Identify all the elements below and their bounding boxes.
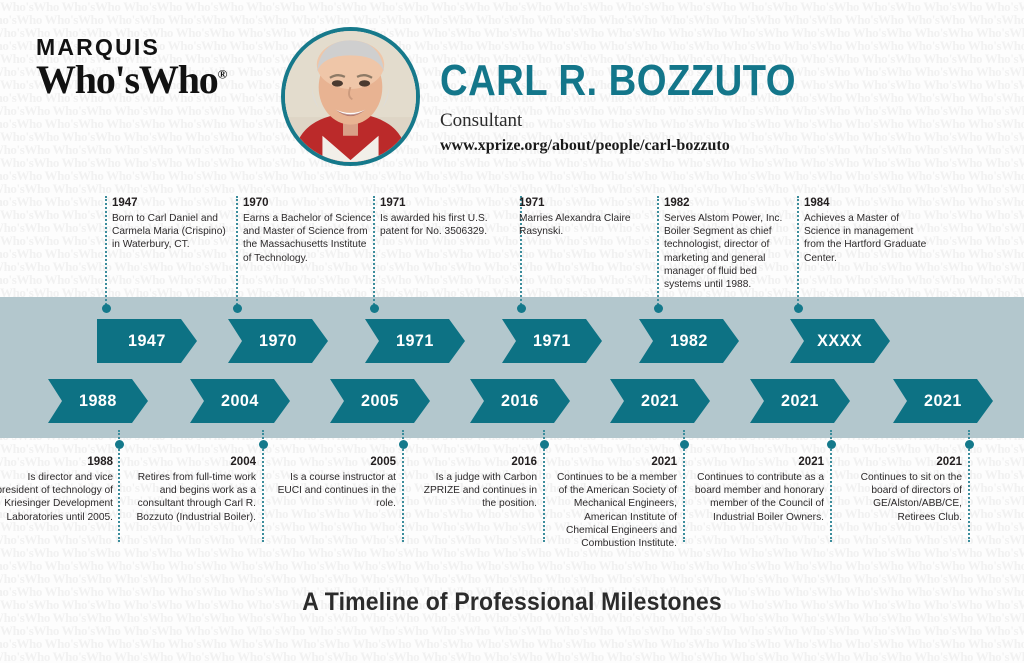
event-description: Continues to be a member of the American… [552, 471, 677, 550]
event-year: 2004 [126, 455, 256, 469]
timeline-connector [373, 196, 375, 309]
chevron-year-label: 1982 [670, 331, 708, 351]
timeline-connector [797, 196, 799, 309]
registered-trademark-icon: ® [218, 67, 227, 82]
timeline-node-dot [654, 304, 663, 313]
timeline-event-bottom-5: 2021Continues to contribute as a board m… [694, 455, 824, 524]
event-year: 1988 [0, 455, 113, 469]
timeline-event-bottom-4: 2021Continues to be a member of the Amer… [552, 455, 677, 550]
watermark-row: Who'sWho Who'sWho Who'sWho Who'sWho Who'… [0, 182, 1024, 195]
chevron-year-label: 2016 [501, 391, 539, 411]
timeline-chevron-bottom-0[interactable]: 1988 [48, 379, 148, 423]
timeline-chevron-top-1[interactable]: 1970 [228, 319, 328, 363]
timeline-node-dot [233, 304, 242, 313]
watermark-row: Who'sWho Who'sWho Who'sWho Who'sWho Who'… [0, 442, 1024, 455]
logo-whoswho-text: Who'sWho® [36, 60, 226, 100]
header: MARQUIS Who'sWho® [0, 0, 1024, 180]
timeline-event-top-1: 1970Earns a Bachelor of Science and Mast… [243, 196, 373, 265]
timeline-connector [236, 196, 238, 309]
watermark-row: Who'sWho Who'sWho Who'sWho Who'sWho Who'… [0, 637, 1024, 650]
timeline-chevron-bottom-5[interactable]: 2021 [750, 379, 850, 423]
page-title: CARL R. BOZZUTO [440, 58, 796, 104]
timeline-chevron-top-0[interactable]: 1947 [97, 319, 197, 363]
timeline-node-dot [259, 440, 268, 449]
event-year: 1984 [804, 196, 934, 210]
timeline-node-dot [517, 304, 526, 313]
chevron-year-label: 1988 [79, 391, 117, 411]
chevron-year-label: 2021 [781, 391, 819, 411]
chevron-year-label: 2005 [361, 391, 399, 411]
event-year: 2021 [552, 455, 677, 469]
timeline-chevron-bottom-4[interactable]: 2021 [610, 379, 710, 423]
event-description: Is awarded his first U.S. patent for No.… [380, 212, 508, 238]
event-description: Continues to sit on the board of directo… [842, 471, 962, 524]
timeline-event-top-3: 1971Marries Alexandra Claire Rasynski. [519, 196, 644, 238]
timeline-node-dot [115, 440, 124, 449]
event-description: Serves Alstom Power, Inc. Boiler Segment… [664, 212, 789, 291]
marquis-whoswho-logo: MARQUIS Who'sWho® [36, 36, 226, 100]
event-description: Earns a Bachelor of Science and Master o… [243, 212, 373, 265]
avatar [281, 27, 420, 166]
event-year: 1947 [112, 196, 232, 210]
watermark-row: Who'sWho Who'sWho Who'sWho Who'sWho Who'… [0, 546, 1024, 559]
infographic-page: Who'sWho Who'sWho Who'sWho Who'sWho Who'… [0, 0, 1024, 663]
timeline-event-bottom-1: 2004Retires from full-time work and begi… [126, 455, 256, 524]
portrait-photo [285, 31, 416, 162]
event-description: Born to Carl Daniel and Carmela Maria (C… [112, 212, 232, 252]
timeline-event-bottom-0: 1988Is director and vice president of te… [0, 455, 113, 524]
timeline-event-top-5: 1984Achieves a Master of Science in mana… [804, 196, 934, 265]
chevron-year-label: XXXX [817, 331, 862, 351]
timeline-chevron-bottom-6[interactable]: 2021 [893, 379, 993, 423]
timeline-event-top-0: 1947Born to Carl Daniel and Carmela Mari… [112, 196, 232, 252]
event-year: 2021 [842, 455, 962, 469]
logo-marquis-text: MARQUIS [36, 36, 226, 59]
chevron-year-label: 2004 [221, 391, 259, 411]
event-description: Is a course instructor at EUCI and conti… [276, 471, 396, 511]
person-url[interactable]: www.xprize.org/about/people/carl-bozzuto [440, 137, 849, 155]
timeline-chevron-bottom-1[interactable]: 2004 [190, 379, 290, 423]
chevron-year-label: 1971 [396, 331, 434, 351]
chevron-year-label: 1947 [128, 331, 166, 351]
person-occupation: Consultant [440, 110, 849, 132]
event-year: 1971 [380, 196, 508, 210]
watermark-row: Who'sWho Who'sWho Who'sWho Who'sWho Who'… [0, 273, 1024, 286]
footer-title: A Timeline of Professional Milestones [0, 588, 1024, 617]
timeline-chevron-bottom-3[interactable]: 2016 [470, 379, 570, 423]
timeline-connector [105, 196, 107, 309]
timeline-connector [657, 196, 659, 309]
event-year: 2005 [276, 455, 396, 469]
event-year: 2021 [694, 455, 824, 469]
event-year: 2016 [419, 455, 537, 469]
watermark-row: Who'sWho Who'sWho Who'sWho Who'sWho Who'… [0, 572, 1024, 585]
timeline-node-dot [399, 440, 408, 449]
event-description: Achieves a Master of Science in manageme… [804, 212, 934, 265]
event-description: Is director and vice president of techno… [0, 471, 113, 524]
watermark-row: Who'sWho Who'sWho Who'sWho Who'sWho Who'… [0, 650, 1024, 663]
timeline-chevron-top-2[interactable]: 1971 [365, 319, 465, 363]
timeline-chevron-bottom-2[interactable]: 2005 [330, 379, 430, 423]
person-info: CARL R. BOZZUTO Consultant www.xprize.or… [440, 58, 849, 155]
timeline-node-dot [827, 440, 836, 449]
timeline-node-dot [680, 440, 689, 449]
event-description: Continues to contribute as a board membe… [694, 471, 824, 524]
chevron-year-label: 1971 [533, 331, 571, 351]
timeline-chevron-top-3[interactable]: 1971 [502, 319, 602, 363]
chevron-year-label: 2021 [924, 391, 962, 411]
event-description: Marries Alexandra Claire Rasynski. [519, 212, 644, 238]
timeline-node-dot [370, 304, 379, 313]
event-description: Is a judge with Carbon ZPRIZE and contin… [419, 471, 537, 511]
timeline-node-dot [102, 304, 111, 313]
timeline-event-top-2: 1971Is awarded his first U.S. patent for… [380, 196, 508, 238]
timeline-event-top-4: 1982Serves Alstom Power, Inc. Boiler Seg… [664, 196, 789, 291]
timeline-chevron-top-5[interactable]: XXXX [790, 319, 890, 363]
timeline-event-bottom-2: 2005Is a course instructor at EUCI and c… [276, 455, 396, 511]
timeline-event-bottom-3: 2016Is a judge with Carbon ZPRIZE and co… [419, 455, 537, 511]
timeline-node-dot [794, 304, 803, 313]
event-year: 1970 [243, 196, 373, 210]
timeline-node-dot [965, 440, 974, 449]
event-description: Retires from full-time work and begins w… [126, 471, 256, 524]
watermark-row: Who'sWho Who'sWho Who'sWho Who'sWho Who'… [0, 533, 1024, 546]
watermark-row: Who'sWho Who'sWho Who'sWho Who'sWho Who'… [0, 559, 1024, 572]
event-year: 1982 [664, 196, 789, 210]
timeline-chevron-top-4[interactable]: 1982 [639, 319, 739, 363]
timeline-event-bottom-6: 2021Continues to sit on the board of dir… [842, 455, 962, 524]
chevron-year-label: 1970 [259, 331, 297, 351]
event-year: 1971 [519, 196, 644, 210]
timeline-node-dot [540, 440, 549, 449]
watermark-row: Who'sWho Who'sWho Who'sWho Who'sWho Who'… [0, 624, 1024, 637]
chevron-year-label: 2021 [641, 391, 679, 411]
